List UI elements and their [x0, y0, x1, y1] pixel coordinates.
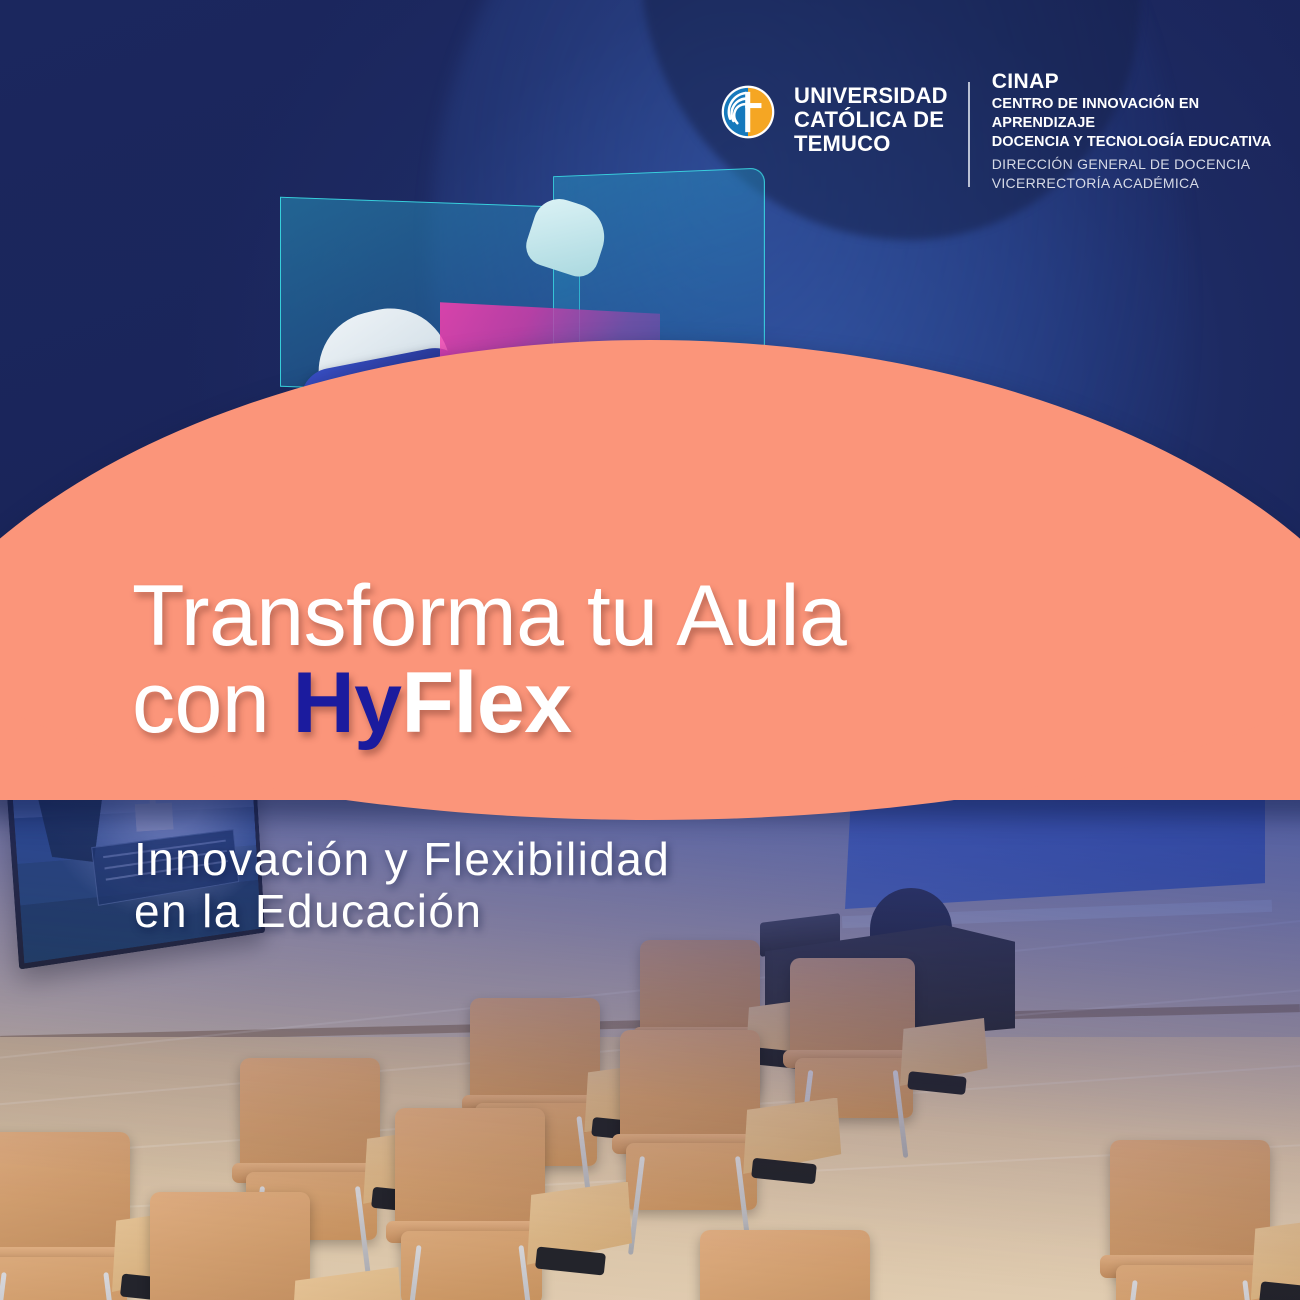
photo-blue-tint — [0, 740, 1300, 1300]
cinap-name-line-2: DOCENCIA Y TECNOLOGÍA EDUCATIVA — [992, 133, 1300, 152]
university-line-2: CATÓLICA DE — [794, 108, 948, 132]
classroom-photo — [0, 740, 1300, 1300]
cinap-acronym: CINAP — [992, 70, 1300, 93]
page-subtitle: Innovación y Flexibilidad en la Educació… — [134, 833, 670, 938]
headline-hy: Hy — [293, 655, 402, 751]
headline-prefix: con — [132, 655, 293, 751]
uct-circle-cross-logo-icon — [720, 84, 776, 140]
subtitle-line-1: Innovación y Flexibilidad — [134, 833, 670, 885]
cinap-block: CINAP CENTRO DE INNOVACIÓN EN APRENDIZAJ… — [992, 70, 1300, 193]
headline-flex: Flex — [402, 655, 572, 751]
university-name: UNIVERSIDAD CATÓLICA DE TEMUCO — [794, 84, 948, 155]
classroom-photo-image — [0, 740, 1300, 1300]
poster: UNIVERSIDAD CATÓLICA DE TEMUCO CINAP CEN… — [0, 0, 1300, 1300]
headline-line-1: Transforma tu Aula — [132, 568, 846, 664]
header-divider — [968, 82, 970, 187]
subtitle-line-2: en la Educación — [134, 885, 670, 937]
cinap-name-line-1: CENTRO DE INNOVACIÓN EN APRENDIZAJE — [992, 95, 1300, 133]
cinap-sub-line-2: VICERRECTORÍA ACADÉMICA — [992, 174, 1300, 193]
brand-header: UNIVERSIDAD CATÓLICA DE TEMUCO CINAP CEN… — [720, 70, 1300, 193]
page-title: Transforma tu Aula con HyFlex — [132, 574, 846, 746]
university-line-3: TEMUCO — [794, 132, 948, 156]
headline-line-2: con HyFlex — [132, 661, 846, 746]
cinap-sub-line-1: DIRECCIÓN GENERAL DE DOCENCIA — [992, 155, 1300, 174]
university-line-1: UNIVERSIDAD — [794, 84, 948, 108]
